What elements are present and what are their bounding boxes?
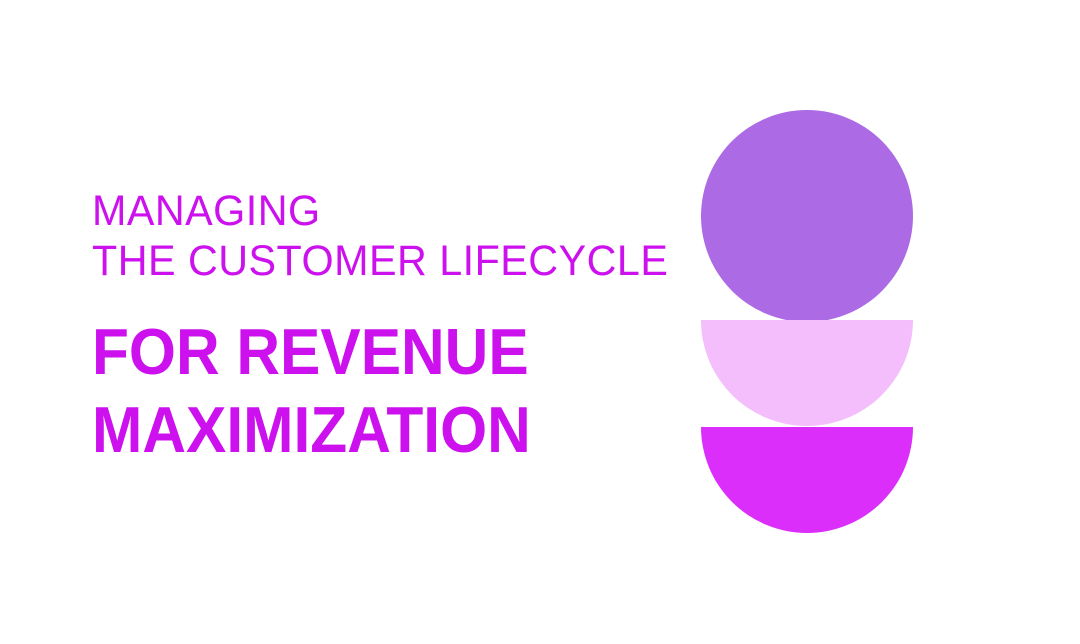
eyebrow-line-1: MANAGING [92, 186, 687, 236]
decorative-shape-stack [701, 110, 913, 534]
eyebrow-line-2: THE CUSTOMER LIFECYCLE [92, 236, 687, 286]
semicircle-bottom-shape [701, 427, 913, 533]
semicircle-middle-shape [701, 320, 913, 426]
title-line-2: MAXIMIZATION [92, 391, 669, 469]
slide-canvas: MANAGING THE CUSTOMER LIFECYCLE FOR REVE… [0, 0, 1080, 644]
title-line-1: FOR REVENUE [92, 313, 669, 391]
headline-spacer [92, 286, 712, 313]
circle-shape [701, 110, 913, 322]
headline-block: MANAGING THE CUSTOMER LIFECYCLE FOR REVE… [92, 186, 712, 469]
